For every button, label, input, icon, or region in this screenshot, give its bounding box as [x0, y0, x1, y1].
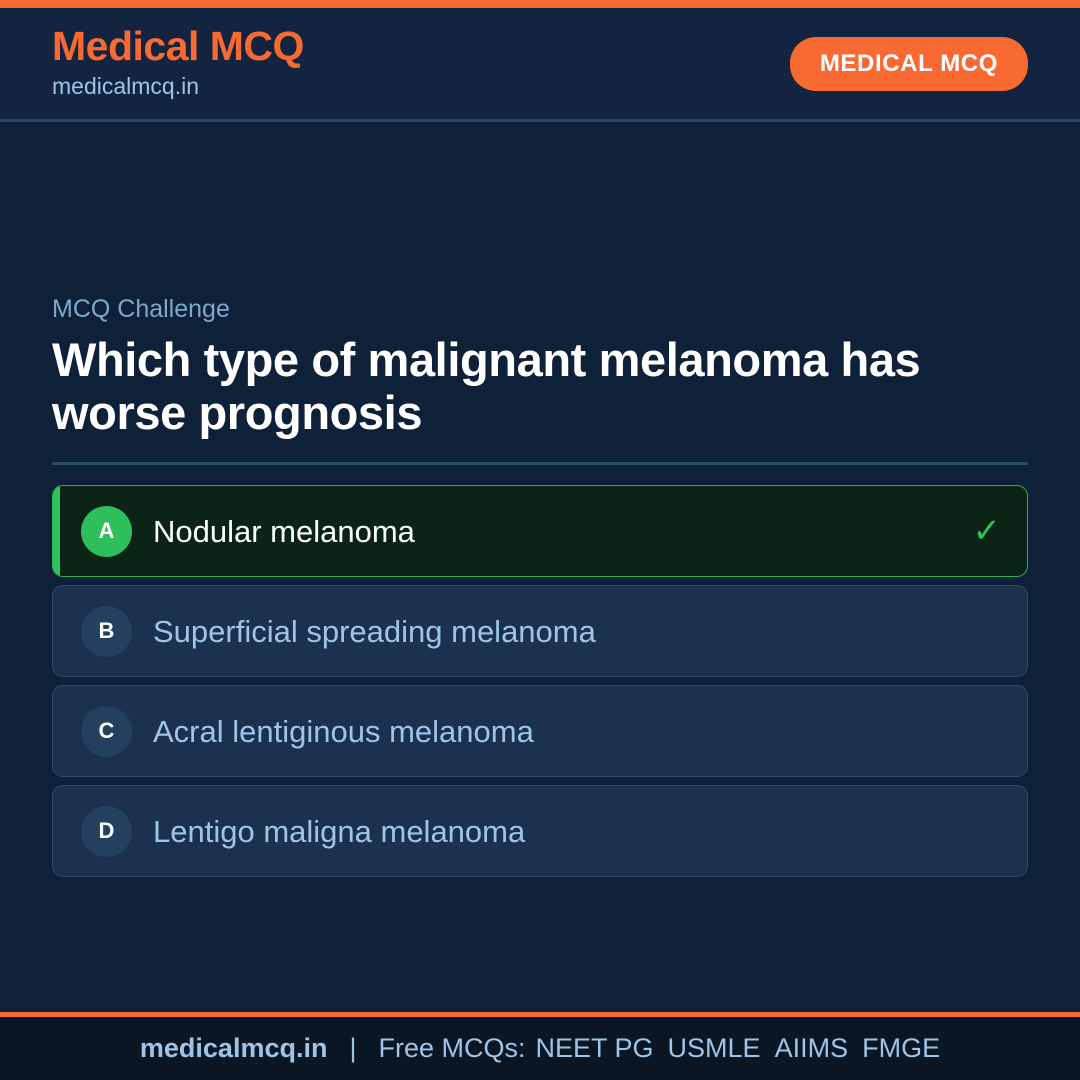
option-b-badge: B	[81, 606, 132, 657]
footer-exam-neet-pg[interactable]: NEET PG	[536, 1033, 654, 1064]
option-c-label: Acral lentiginous melanoma	[153, 713, 1001, 750]
mcq-card: Medical MCQ medicalmcq.in MEDICAL MCQ MC…	[0, 0, 1080, 1080]
brand-subtitle: medicalmcq.in	[52, 71, 304, 102]
footer-exam-aiims[interactable]: AIIMS	[775, 1033, 849, 1064]
option-d[interactable]: D Lentigo maligna melanoma	[52, 785, 1028, 877]
header-badge[interactable]: MEDICAL MCQ	[790, 37, 1028, 91]
footer-content: medicalmcq.in | Free MCQs: NEET PG USMLE…	[140, 1033, 940, 1064]
header: Medical MCQ medicalmcq.in MEDICAL MCQ	[0, 8, 1080, 122]
footer-label: Free MCQs:	[378, 1033, 525, 1064]
option-b[interactable]: B Superficial spreading melanoma	[52, 585, 1028, 677]
option-a-label: Nodular melanoma	[153, 513, 961, 550]
option-b-label: Superficial spreading melanoma	[153, 613, 1001, 650]
option-c-badge: C	[81, 706, 132, 757]
option-d-label: Lentigo maligna melanoma	[153, 813, 1001, 850]
option-a-badge: A	[81, 506, 132, 557]
question-block: MCQ Challenge Which type of malignant me…	[52, 122, 1028, 439]
options-list: A Nodular melanoma ✓ B Superficial sprea…	[52, 485, 1028, 877]
option-c[interactable]: C Acral lentiginous melanoma	[52, 685, 1028, 777]
option-a[interactable]: A Nodular melanoma ✓	[52, 485, 1028, 577]
check-mark-icon: ✓	[973, 514, 1002, 548]
footer-exam-usmle[interactable]: USMLE	[668, 1033, 761, 1064]
brand: Medical MCQ medicalmcq.in	[52, 25, 304, 102]
eyebrow-label: MCQ Challenge	[52, 294, 1028, 324]
main-content: MCQ Challenge Which type of malignant me…	[0, 122, 1080, 1012]
option-d-badge: D	[81, 806, 132, 857]
footer-site-link[interactable]: medicalmcq.in	[140, 1033, 328, 1064]
top-accent-bar	[0, 0, 1080, 8]
question-text: Which type of malignant melanoma has wor…	[52, 333, 992, 439]
brand-title: Medical MCQ	[52, 25, 304, 68]
footer-exam-fmge[interactable]: FMGE	[862, 1033, 940, 1064]
footer-separator: |	[349, 1033, 356, 1064]
section-divider	[52, 462, 1028, 465]
footer: medicalmcq.in | Free MCQs: NEET PG USMLE…	[0, 1012, 1080, 1080]
